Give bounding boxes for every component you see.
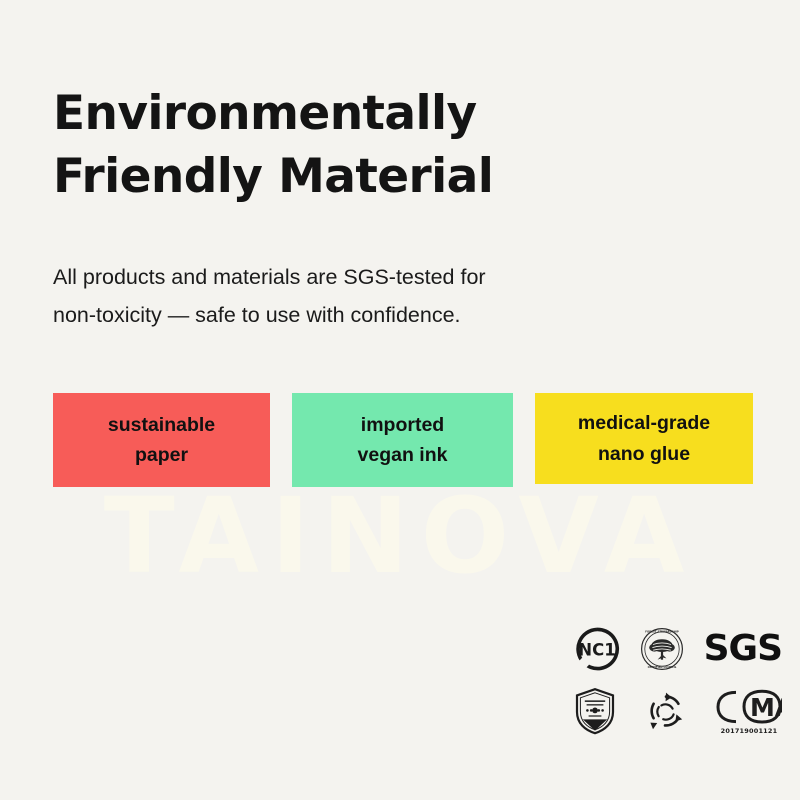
- material-chip-medical-grade-nano-glue: medical-grade nano glue: [535, 393, 753, 484]
- certification-badge-group: NC1: [574, 620, 782, 746]
- sgs-wordmark: SGS: [704, 631, 782, 667]
- material-chip-group: sustainable paper imported vegan ink med…: [53, 393, 753, 491]
- nc1-icon: NC1: [574, 626, 620, 672]
- page-title-line-2: Friendly Material: [53, 146, 713, 208]
- brand-watermark: TAINOVA: [0, 484, 800, 588]
- chip-label-line-1: imported: [361, 410, 444, 440]
- cma-certificate-number: 201719001121: [721, 727, 778, 735]
- chip-label-line-2: paper: [135, 440, 188, 470]
- svg-text:FOREST STEWARDSHIP: FOREST STEWARDSHIP: [645, 630, 679, 634]
- shield-badge-icon: [574, 687, 616, 735]
- recycling-symbol-icon: [643, 688, 689, 734]
- chip-label-line-2: nano glue: [598, 439, 690, 469]
- svg-text:NC1: NC1: [578, 641, 615, 660]
- page-description-line-1: All products and materials are SGS-teste…: [53, 258, 653, 296]
- poster-canvas: TAINOVA Environmentally Friendly Materia…: [0, 0, 800, 800]
- page-description: All products and materials are SGS-teste…: [53, 258, 653, 335]
- svg-text:CERTIFIED COUNCIL: CERTIFIED COUNCIL: [647, 665, 676, 669]
- chip-label-line-2: vegan ink: [358, 440, 448, 470]
- svg-text:MA: MA: [750, 693, 782, 722]
- material-chip-imported-vegan-ink: imported vegan ink: [292, 393, 513, 487]
- cma-mark-icon: MA 201719001121: [716, 688, 782, 735]
- chip-label-line-1: sustainable: [108, 410, 215, 440]
- fsc-tree-seal-icon: FOREST STEWARDSHIP CERTIFIED COUNCIL: [640, 627, 684, 671]
- certification-row-top: NC1: [574, 620, 782, 678]
- page-title: Environmentally Friendly Material: [53, 83, 713, 207]
- page-description-line-2: non-toxicity — safe to use with confiden…: [53, 296, 653, 334]
- chip-label-line-1: medical-grade: [578, 408, 710, 438]
- page-title-line-1: Environmentally: [53, 83, 713, 145]
- material-chip-sustainable-paper: sustainable paper: [53, 393, 270, 487]
- certification-row-bottom: MA 201719001121: [574, 682, 782, 740]
